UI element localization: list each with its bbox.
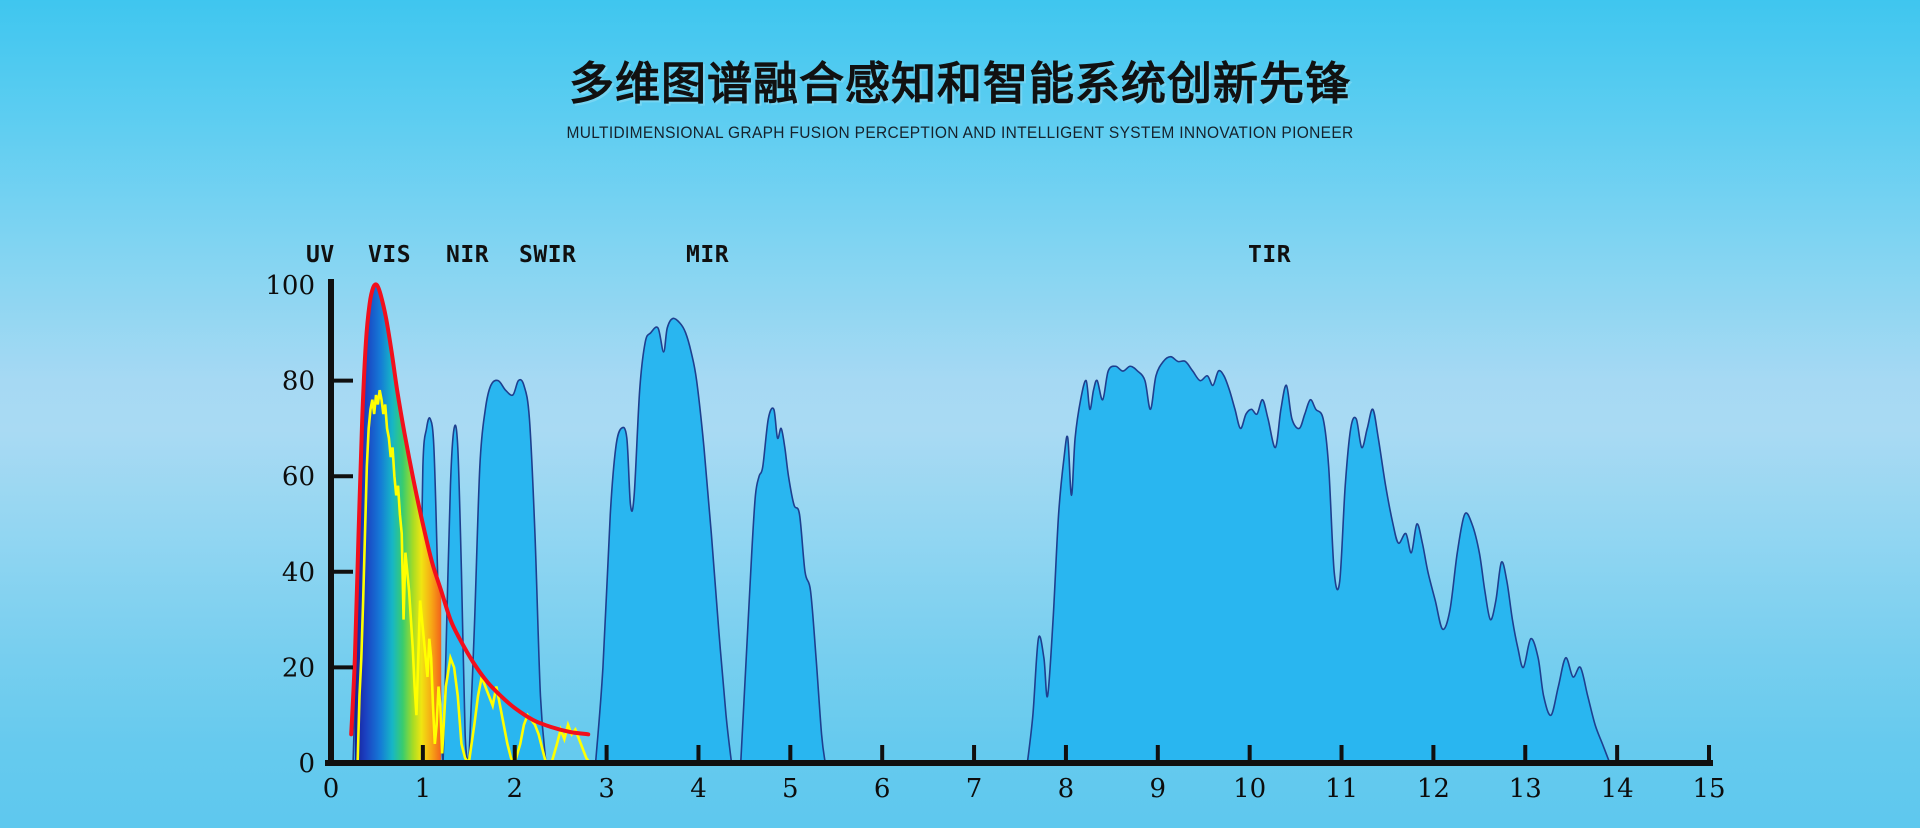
visible-rainbow-band	[353, 279, 457, 769]
y-tick-20: 20	[282, 653, 315, 683]
x-tick-1: 1	[415, 774, 432, 804]
x-tick-7: 7	[966, 774, 983, 804]
x-axis-tick-labels: 0123456789101112131415	[323, 774, 1726, 804]
x-tick-12: 12	[1417, 774, 1450, 804]
x-tick-5: 5	[782, 774, 799, 804]
x-tick-11: 11	[1325, 774, 1358, 804]
x-tick-6: 6	[874, 774, 891, 804]
x-tick-8: 8	[1058, 774, 1075, 804]
y-tick-80: 80	[282, 367, 315, 397]
y-tick-0: 0	[298, 749, 315, 779]
y-tick-40: 40	[282, 558, 315, 588]
x-tick-10: 10	[1233, 774, 1266, 804]
x-tick-4: 4	[690, 774, 707, 804]
x-tick-3: 3	[598, 774, 615, 804]
x-tick-2: 2	[506, 774, 523, 804]
poster-root: 多维图谱融合感知和智能系统创新先锋 MULTIDIMENSIONAL GRAPH…	[0, 0, 1920, 828]
x-tick-15: 15	[1692, 774, 1725, 804]
y-axis-tick-labels: 020406080100	[265, 271, 315, 779]
spectrum-svg: 0123456789101112131415 020406080100	[0, 0, 1920, 828]
spectrum-chart: 0123456789101112131415 020406080100	[0, 0, 1920, 828]
x-tick-0: 0	[323, 774, 340, 804]
x-tick-9: 9	[1150, 774, 1167, 804]
x-tick-13: 13	[1509, 774, 1542, 804]
y-tick-100: 100	[265, 271, 315, 301]
transmission-area	[353, 318, 1610, 763]
y-tick-60: 60	[282, 462, 315, 492]
x-tick-14: 14	[1601, 774, 1634, 804]
